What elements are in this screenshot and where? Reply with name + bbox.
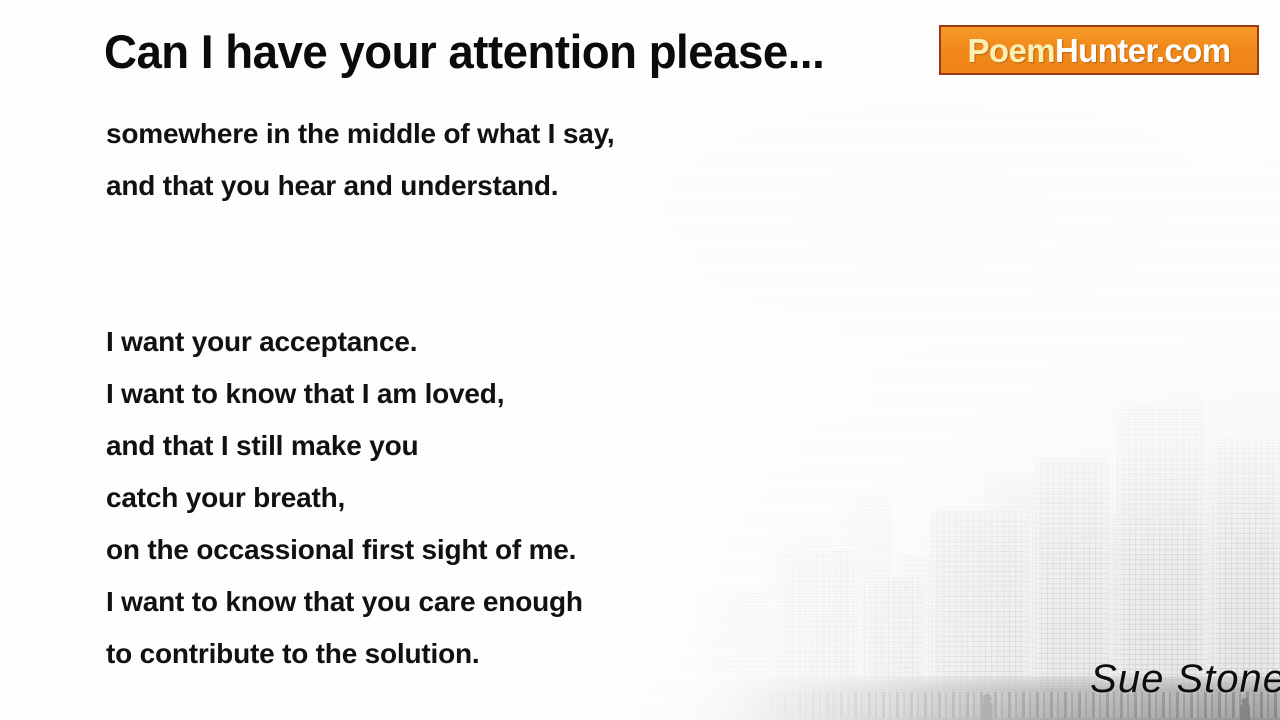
poem-title: Can I have your attention please... bbox=[104, 24, 824, 79]
poem-line: on the occassional first sight of me. bbox=[106, 524, 866, 576]
poem-line-blank bbox=[106, 264, 866, 316]
brand-name-part-one: Poem bbox=[967, 32, 1054, 69]
poem-line: catch your breath, bbox=[106, 472, 866, 524]
poem-line: to contribute to the solution. bbox=[106, 628, 866, 680]
brand-wordmark: PoemHunter.com bbox=[967, 34, 1230, 67]
poem-content: Can I have your attention please... Poem… bbox=[0, 0, 1280, 720]
poem-line: and that you hear and understand. bbox=[106, 160, 866, 212]
poem-line: I want to know that you care enough bbox=[106, 576, 866, 628]
poem-author-signature: Sue Stone bbox=[1090, 657, 1280, 702]
poem-card: Can I have your attention please... Poem… bbox=[0, 0, 1280, 720]
poem-line: and that I still make you bbox=[106, 420, 866, 472]
poem-line-blank bbox=[106, 212, 866, 264]
poemhunter-logo-badge[interactable]: PoemHunter.com bbox=[939, 25, 1259, 75]
poem-line: I want to know that I am loved, bbox=[106, 368, 866, 420]
poem-text-block: somewhere in the middle of what I say,an… bbox=[106, 108, 866, 680]
brand-name-part-two: Hunter.com bbox=[1055, 32, 1231, 69]
poem-line: I want your acceptance. bbox=[106, 316, 866, 368]
poem-line: somewhere in the middle of what I say, bbox=[106, 108, 866, 160]
